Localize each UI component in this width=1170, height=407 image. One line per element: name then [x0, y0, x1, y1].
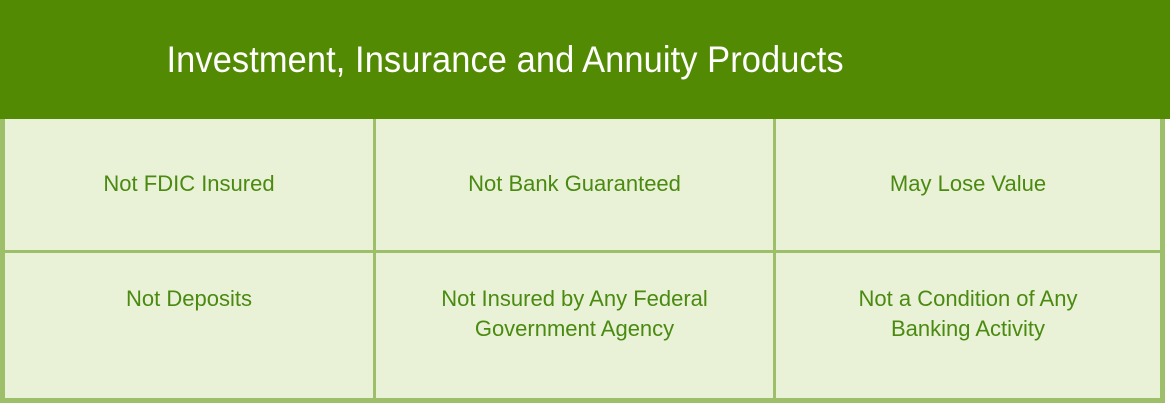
disclosure-cell-may-lose-value: May Lose Value	[776, 119, 1160, 250]
investment-disclosure-panel: Investment, Insurance and Annuity Produc…	[0, 0, 1170, 407]
panel-header: Investment, Insurance and Annuity Produc…	[0, 0, 1170, 119]
disclosure-cell-not-insured-by-federal-government-agency: Not Insured by Any Federal Government Ag…	[376, 253, 776, 398]
table-row: Not FDIC Insured Not Bank Guaranteed May…	[5, 119, 1160, 253]
cell-line: Government Agency	[441, 314, 708, 344]
cell-line: May Lose Value	[890, 169, 1046, 199]
table-row: Not Deposits Not Insured by Any Federal …	[5, 253, 1160, 398]
cell-text: Not Deposits	[126, 284, 252, 314]
cell-line: Banking Activity	[859, 314, 1078, 344]
cell-line: Not FDIC Insured	[103, 169, 274, 199]
cell-text: Not Insured by Any Federal Government Ag…	[441, 284, 708, 344]
cell-text: May Lose Value	[890, 169, 1046, 199]
page-title: Investment, Insurance and Annuity Produc…	[166, 41, 1003, 78]
cell-line: Not Insured by Any Federal	[441, 284, 708, 314]
cell-line: Not Bank Guaranteed	[468, 169, 681, 199]
disclosure-cell-not-a-condition-of-banking-activity: Not a Condition of Any Banking Activity	[776, 253, 1160, 398]
cell-line: Not Deposits	[126, 284, 252, 314]
disclosure-cell-not-bank-guaranteed: Not Bank Guaranteed	[376, 119, 776, 250]
disclosure-cell-not-deposits: Not Deposits	[5, 253, 376, 398]
cell-text: Not a Condition of Any Banking Activity	[859, 284, 1078, 344]
cell-text: Not FDIC Insured	[103, 169, 274, 199]
disclosure-cell-not-fdic-insured: Not FDIC Insured	[5, 119, 376, 250]
disclosure-table: Not FDIC Insured Not Bank Guaranteed May…	[0, 119, 1165, 403]
cell-text: Not Bank Guaranteed	[468, 169, 681, 199]
cell-line: Not a Condition of Any	[859, 284, 1078, 314]
